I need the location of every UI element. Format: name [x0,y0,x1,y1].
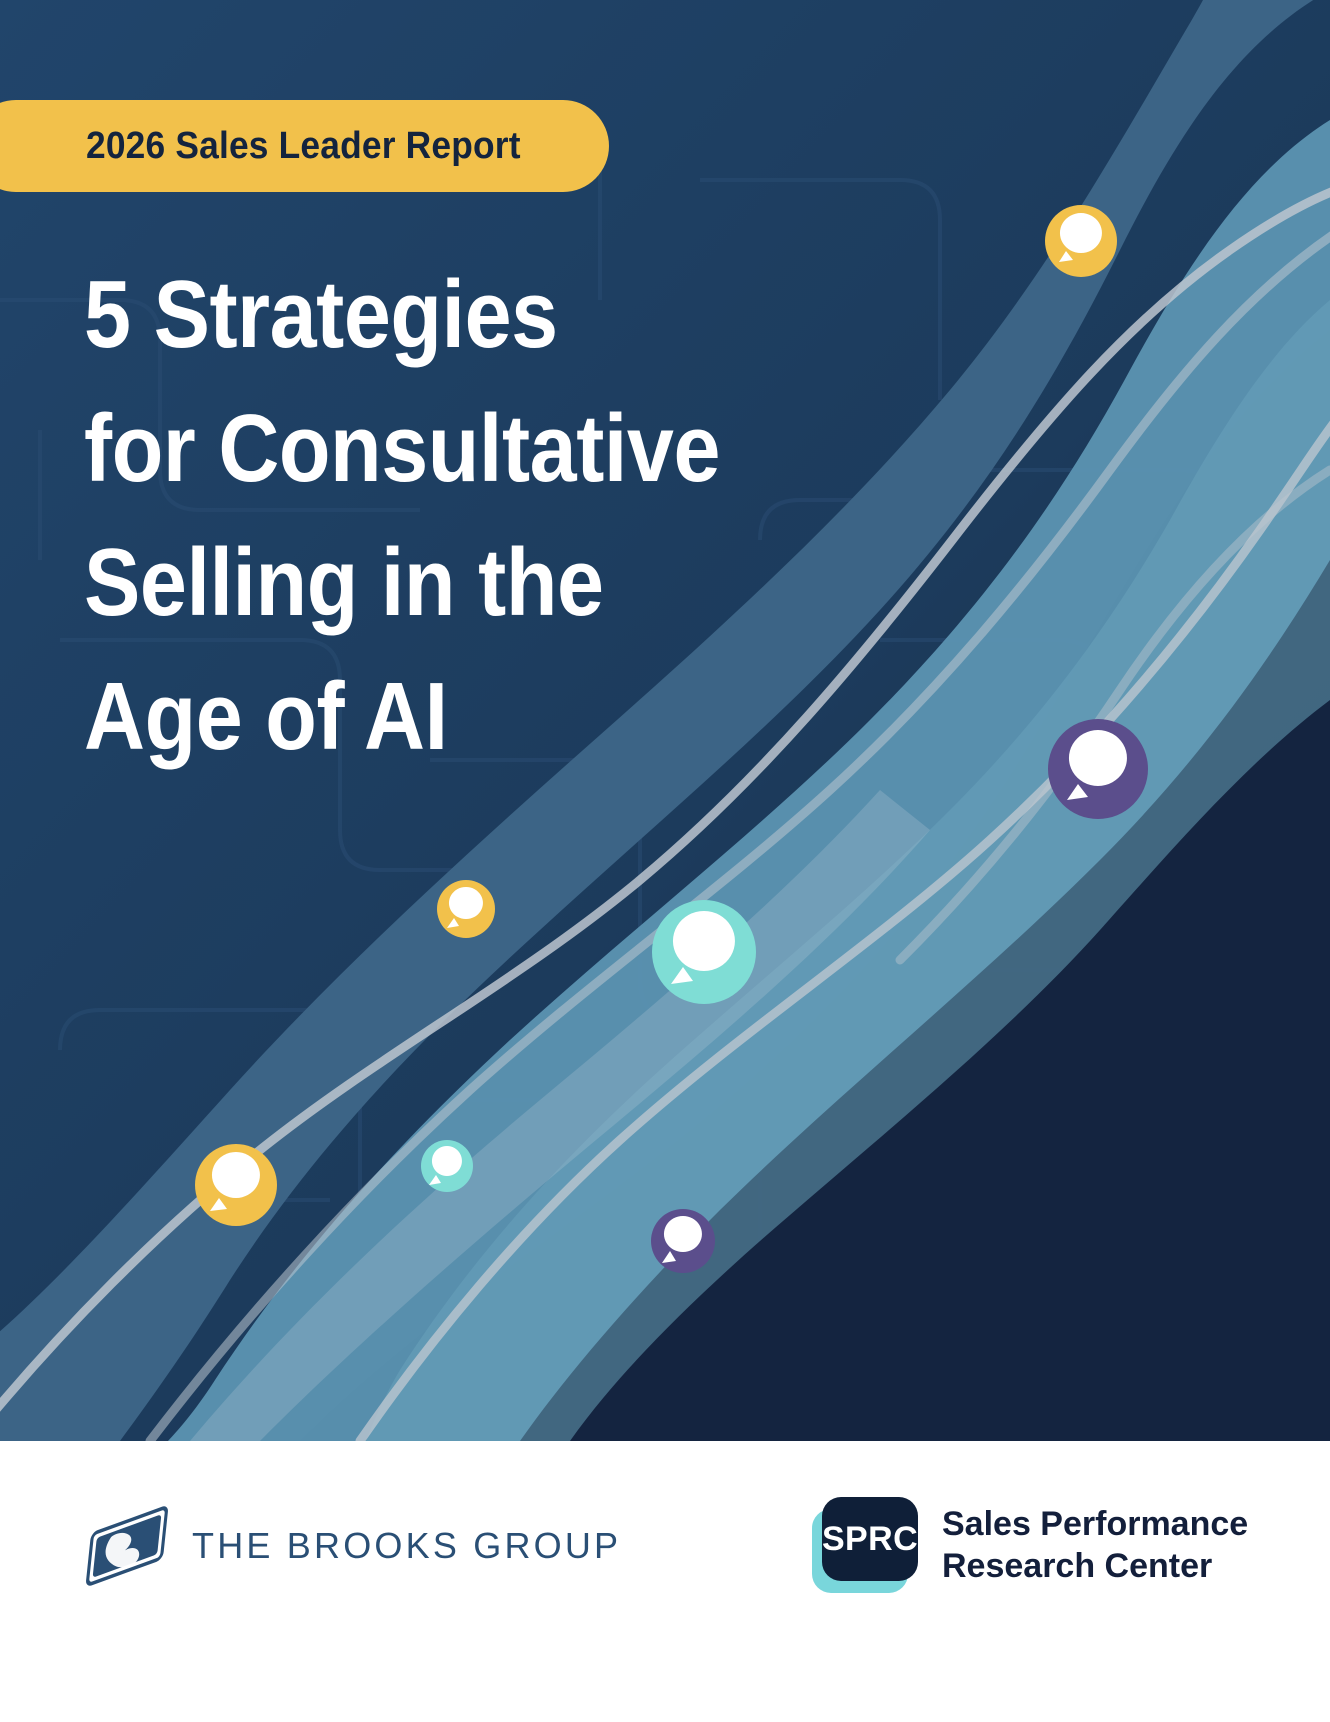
bubble-purple-right [1048,719,1148,819]
footer: THE BROOKS GROUP SPRC Sales Performance … [0,1441,1330,1722]
bubble-purple-bottom [651,1209,715,1273]
bubble-yellow-bottom-left [195,1144,277,1226]
sprc-name-line-1: Sales Performance [942,1503,1248,1545]
title-line-4: Age of AI [84,650,823,784]
title-line-2: for Consultative [84,382,823,516]
brooks-wordmark: THE BROOKS GROUP [192,1525,621,1567]
page-title: 5 Strategies for Consultative Selling in… [84,248,924,784]
title-line-3: Selling in the [84,516,823,650]
report-cover: 2026 Sales Leader Report 5 Strategies fo… [0,0,1330,1722]
sprc-wordmark: Sales Performance Research Center [942,1503,1248,1587]
bubble-teal-small-lower [421,1140,473,1192]
report-badge: 2026 Sales Leader Report [0,100,609,192]
hero-artwork: 2026 Sales Leader Report 5 Strategies fo… [0,0,1330,1441]
sprc-badge-icon: SPRC [812,1497,918,1593]
brooks-diamond-icon [84,1503,170,1589]
badge-label: 2026 Sales Leader Report [86,125,521,168]
sprc-name-line-2: Research Center [942,1545,1248,1587]
bubble-yellow-small-left [437,880,495,938]
title-line-1: 5 Strategies [84,248,823,382]
sprc-badge-text: SPRC [822,1520,918,1559]
bubble-yellow-top-right [1045,205,1117,277]
bubble-teal-large-center [652,900,756,1004]
sprc-logo: SPRC Sales Performance Research Center [812,1497,1248,1593]
brooks-group-logo: THE BROOKS GROUP [84,1503,621,1589]
sprc-badge-front: SPRC [822,1497,918,1581]
